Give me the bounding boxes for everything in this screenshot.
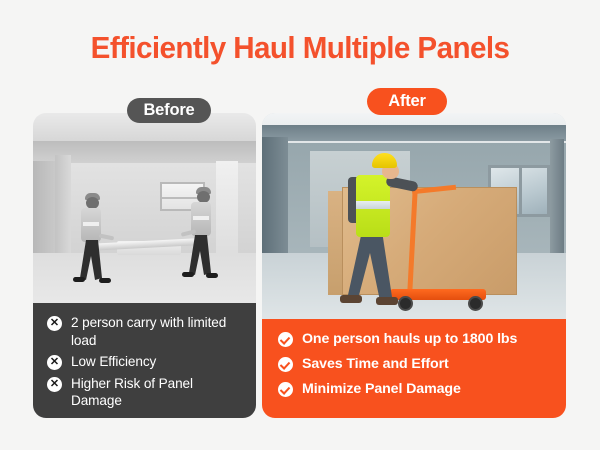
before-after-comparison: ✕ 2 person carry with limited load ✕ Low… bbox=[33, 113, 566, 418]
list-item: ✕ Low Efficiency bbox=[47, 353, 243, 371]
list-item-label: Minimize Panel Damage bbox=[302, 380, 461, 398]
check-circle-icon bbox=[278, 382, 293, 397]
floor-shape bbox=[33, 253, 256, 303]
after-bullet-list: One person hauls up to 1800 lbs Saves Ti… bbox=[262, 319, 566, 418]
list-item: One person hauls up to 1800 lbs bbox=[278, 330, 553, 348]
x-circle-icon: ✕ bbox=[47, 316, 62, 331]
ceiling-beam-shape bbox=[262, 125, 566, 141]
check-circle-icon bbox=[278, 332, 293, 347]
list-item: ✕ Higher Risk of Panel Damage bbox=[47, 375, 243, 410]
x-circle-icon: ✕ bbox=[47, 377, 62, 392]
column-shape bbox=[55, 155, 71, 265]
boot-shape bbox=[99, 278, 111, 283]
list-item: Saves Time and Effort bbox=[278, 355, 553, 373]
list-item: ✕ 2 person carry with limited load bbox=[47, 314, 243, 349]
list-item: Minimize Panel Damage bbox=[278, 380, 553, 398]
before-badge: Before bbox=[127, 98, 211, 123]
cart-wheel-shape bbox=[398, 296, 413, 311]
list-item-label: One person hauls up to 1800 lbs bbox=[302, 330, 517, 348]
boot-shape bbox=[73, 277, 85, 282]
after-photo bbox=[262, 113, 566, 319]
list-item-label: Saves Time and Effort bbox=[302, 355, 449, 373]
boot-shape bbox=[182, 272, 194, 277]
list-item-label: Higher Risk of Panel Damage bbox=[71, 375, 243, 410]
cart-wheel-shape bbox=[468, 296, 483, 311]
vest-shape bbox=[81, 208, 101, 242]
before-photo bbox=[33, 113, 256, 303]
list-item-label: 2 person carry with limited load bbox=[71, 314, 243, 349]
before-bullet-list: ✕ 2 person carry with limited load ✕ Low… bbox=[33, 303, 256, 418]
left-column-shape bbox=[262, 137, 288, 269]
page-title: Efficiently Haul Multiple Panels bbox=[9, 31, 591, 66]
x-circle-icon: ✕ bbox=[47, 355, 62, 370]
doorway-shape bbox=[216, 161, 238, 253]
list-item-label: Low Efficiency bbox=[71, 353, 156, 371]
before-card: ✕ 2 person carry with limited load ✕ Low… bbox=[33, 113, 256, 418]
boot-shape bbox=[206, 273, 218, 278]
check-circle-icon bbox=[278, 357, 293, 372]
hi-vis-vest-shape bbox=[356, 175, 390, 237]
boot-shape bbox=[340, 295, 362, 303]
boot-shape bbox=[376, 297, 398, 305]
after-card: One person hauls up to 1800 lbs Saves Ti… bbox=[262, 113, 566, 418]
after-badge: After bbox=[367, 88, 447, 115]
